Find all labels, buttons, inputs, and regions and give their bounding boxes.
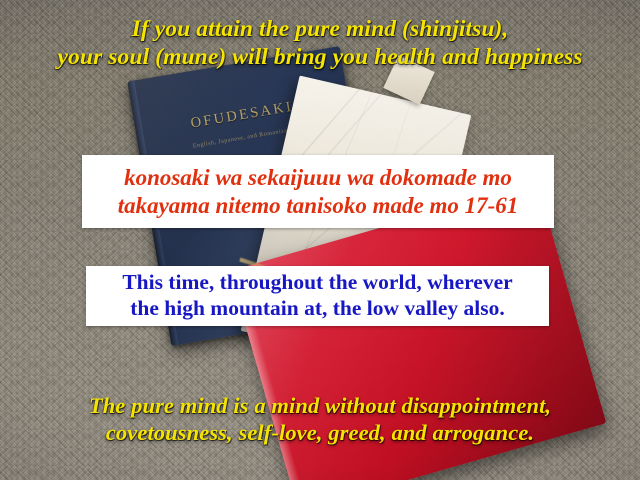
slide-canvas: OFUDESAKI English, Japanese, and Romaniz… <box>0 0 640 480</box>
romaji-verse-box: konosaki wa sekaijuuu wa dokomade mo tak… <box>82 155 554 228</box>
romaji-verse-text: konosaki wa sekaijuuu wa dokomade mo tak… <box>118 164 519 219</box>
top-caption: If you attain the pure mind (shinjitsu),… <box>0 16 640 71</box>
translation-box: This time, throughout the world, whereve… <box>86 266 549 326</box>
bottom-caption: The pure mind is a mind without disappoi… <box>0 393 640 446</box>
translation-text: This time, throughout the world, whereve… <box>122 270 512 322</box>
